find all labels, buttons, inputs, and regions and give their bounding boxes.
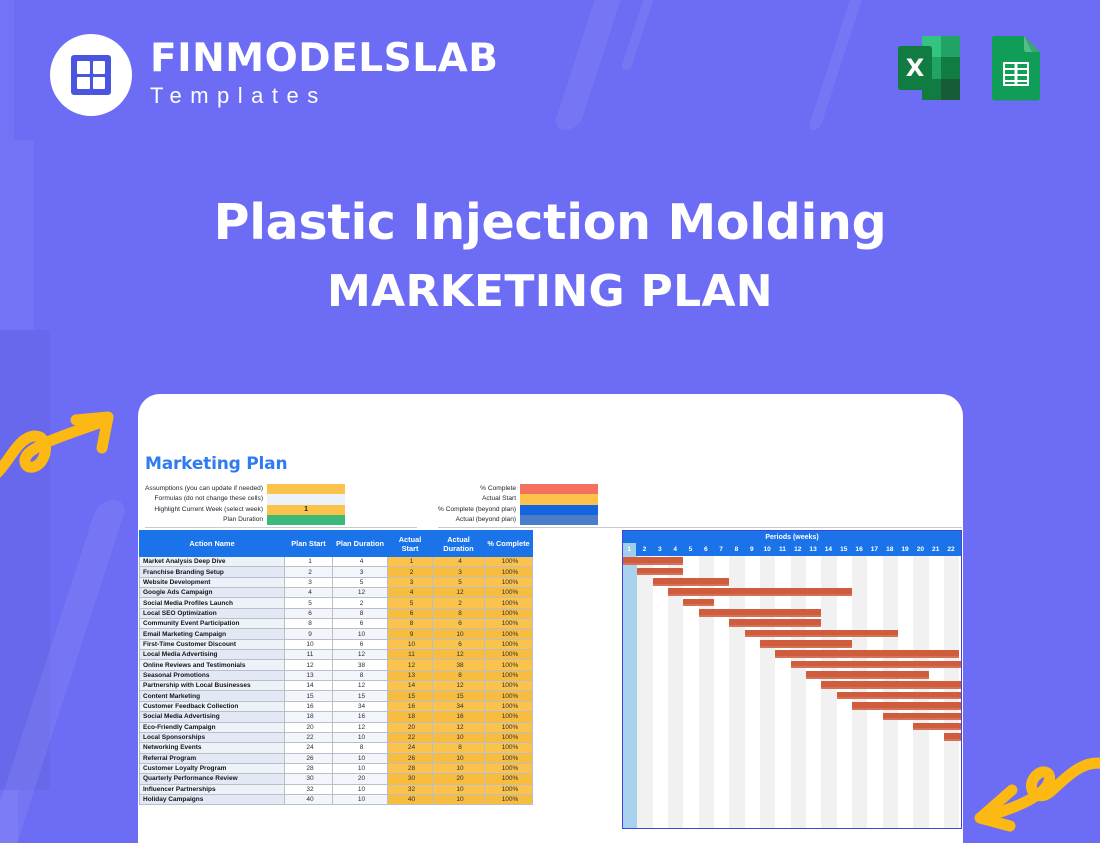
spreadsheet-card: Marketing Plan Assumptions (you can upda… <box>138 394 963 843</box>
column-header[interactable]: Actual Start <box>388 531 433 557</box>
table-row[interactable]: Market Analysis Deep Dive1414100% <box>140 557 533 567</box>
poster-canvas: FINMODELSLAB Templates X <box>0 0 1100 843</box>
value-cell[interactable]: 100% <box>485 650 533 660</box>
gantt-bar[interactable] <box>699 609 822 617</box>
period-cell[interactable]: 5 <box>683 543 698 556</box>
value-cell[interactable]: 40 <box>285 794 333 804</box>
value-cell[interactable]: 12 <box>333 681 388 691</box>
action-name-cell[interactable]: Quarterly Performance Review <box>140 774 285 784</box>
legend-swatch <box>520 515 598 525</box>
value-cell[interactable]: 20 <box>388 722 433 732</box>
gantt-row <box>622 753 962 763</box>
value-cell[interactable]: 12 <box>433 650 485 660</box>
value-cell[interactable]: 100% <box>485 774 533 784</box>
action-name-cell[interactable]: Local Media Advertising <box>140 650 285 660</box>
value-cell[interactable]: 10 <box>333 794 388 804</box>
gantt-row <box>622 566 962 576</box>
period-cell[interactable]: 3 <box>653 543 668 556</box>
value-cell[interactable]: 8 <box>333 608 388 618</box>
action-table[interactable]: Action NamePlan StartPlan DurationActual… <box>139 530 533 805</box>
value-cell[interactable]: 30 <box>388 774 433 784</box>
legend-swatch <box>520 494 598 504</box>
gantt-bar[interactable] <box>775 650 959 658</box>
value-cell[interactable]: 10 <box>433 763 485 773</box>
table-header: Action NamePlan StartPlan DurationActual… <box>140 531 533 557</box>
value-cell[interactable]: 34 <box>433 701 485 711</box>
value-cell[interactable]: 10 <box>433 629 485 639</box>
period-cell[interactable]: 12 <box>791 543 806 556</box>
table-row[interactable]: Eco-Friendly Campaign20122012100% <box>140 722 533 732</box>
gantt-panel[interactable]: Periods (weeks) 123456789101112131415161… <box>622 530 962 829</box>
period-cell[interactable]: 21 <box>929 543 944 556</box>
table-row[interactable]: Customer Feedback Collection16341634100% <box>140 701 533 711</box>
value-cell[interactable]: 16 <box>388 701 433 711</box>
brush-stroke-7 <box>0 790 18 843</box>
periods-header-row[interactable]: 1234567891011121314151617181920212223242… <box>622 543 962 556</box>
period-cell[interactable]: 8 <box>729 543 744 556</box>
table-row[interactable]: Quarterly Performance Review30203020100% <box>140 774 533 784</box>
value-cell[interactable]: 10 <box>433 784 485 794</box>
sheet-title: Marketing Plan <box>145 454 287 474</box>
legend-swatch <box>267 484 345 494</box>
value-cell[interactable]: 10 <box>433 753 485 763</box>
value-cell[interactable]: 20 <box>433 774 485 784</box>
period-cell[interactable]: 18 <box>883 543 898 556</box>
value-cell[interactable]: 2 <box>333 598 388 608</box>
value-cell[interactable]: 6 <box>433 639 485 649</box>
value-cell[interactable]: 100% <box>485 660 533 670</box>
value-cell[interactable]: 1 <box>285 557 333 567</box>
value-cell[interactable]: 30 <box>285 774 333 784</box>
value-cell[interactable]: 38 <box>433 660 485 670</box>
value-cell[interactable]: 12 <box>433 722 485 732</box>
value-cell[interactable]: 10 <box>388 639 433 649</box>
value-cell[interactable]: 40 <box>388 794 433 804</box>
action-name-cell[interactable]: Content Marketing <box>140 691 285 701</box>
value-cell[interactable]: 1 <box>388 557 433 567</box>
value-cell[interactable]: 5 <box>388 598 433 608</box>
value-cell[interactable]: 10 <box>333 629 388 639</box>
brand-subtitle: Templates <box>150 81 498 111</box>
action-name-cell[interactable]: Influencer Partnerships <box>140 784 285 794</box>
legend-right-swatches <box>520 484 598 525</box>
value-cell[interactable]: 9 <box>285 629 333 639</box>
app-icons: X <box>894 32 1052 104</box>
gantt-row <box>622 577 962 587</box>
legend-label: Formulas (do not change these cells) <box>145 494 263 504</box>
action-name-cell[interactable]: Market Analysis Deep Dive <box>140 557 285 567</box>
gantt-row <box>622 784 962 794</box>
period-cell[interactable]: 6 <box>699 543 714 556</box>
table-body: Market Analysis Deep Dive1414100%Franchi… <box>140 557 533 805</box>
value-cell[interactable]: 28 <box>388 763 433 773</box>
table-row[interactable]: Website Development3535100% <box>140 577 533 587</box>
action-name-cell[interactable]: Customer Feedback Collection <box>140 701 285 711</box>
gantt-bar[interactable] <box>760 640 852 648</box>
squiggly-arrow-down-left-icon <box>958 742 1100 834</box>
action-name-cell[interactable]: Social Media Advertising <box>140 712 285 722</box>
value-cell[interactable]: 100% <box>485 784 533 794</box>
gantt-bar[interactable] <box>806 671 929 679</box>
value-cell[interactable]: 100% <box>485 681 533 691</box>
value-cell[interactable]: 12 <box>333 650 388 660</box>
table-row[interactable]: Google Ads Campaign412412100% <box>140 588 533 598</box>
action-name-cell[interactable]: Partnership with Local Businesses <box>140 681 285 691</box>
gantt-bar[interactable] <box>852 702 962 710</box>
period-cell[interactable]: 16 <box>852 543 867 556</box>
legend-left-swatches: 1 <box>267 484 345 525</box>
period-cell[interactable]: 15 <box>837 543 852 556</box>
value-cell[interactable]: 20 <box>333 774 388 784</box>
table-row[interactable]: Franchise Branding Setup2323100% <box>140 567 533 577</box>
value-cell[interactable]: 8 <box>433 670 485 680</box>
value-cell[interactable]: 2 <box>285 567 333 577</box>
value-cell[interactable]: 10 <box>333 753 388 763</box>
gantt-row <box>622 597 962 607</box>
google-sheets-icon[interactable] <box>980 32 1052 104</box>
action-name-cell[interactable]: Email Marketing Campaign <box>140 629 285 639</box>
value-cell[interactable]: 100% <box>485 557 533 567</box>
value-cell[interactable]: 100% <box>485 691 533 701</box>
gantt-row <box>622 722 962 732</box>
title-line-2: MARKETING PLAN <box>0 263 1100 320</box>
value-cell[interactable]: 10 <box>285 639 333 649</box>
table-row[interactable]: Networking Events248248100% <box>140 743 533 753</box>
table-row[interactable]: First-Time Customer Discount106106100% <box>140 639 533 649</box>
value-cell[interactable]: 3 <box>388 577 433 587</box>
period-cell[interactable]: 9 <box>745 543 760 556</box>
legend-right-labels: % CompleteActual Start% Complete (beyond… <box>438 484 516 525</box>
gantt-row <box>622 649 962 659</box>
period-cell[interactable]: 17 <box>867 543 882 556</box>
legend-label: % Complete <box>438 484 516 494</box>
brand-name: FINMODELSLAB <box>150 39 498 79</box>
gantt-row <box>622 618 962 628</box>
table-row[interactable]: Referral Program26102610100% <box>140 753 533 763</box>
value-cell[interactable]: 2 <box>433 598 485 608</box>
value-cell[interactable]: 5 <box>433 577 485 587</box>
value-cell[interactable]: 20 <box>285 722 333 732</box>
logo-mark <box>50 34 132 116</box>
periods-title: Periods (weeks) <box>622 530 962 543</box>
column-header[interactable]: Actual Duration <box>433 531 485 557</box>
title-line-1: Plastic Injection Molding <box>0 192 1100 253</box>
value-cell[interactable]: 12 <box>333 588 388 598</box>
value-cell[interactable]: 16 <box>285 701 333 711</box>
gantt-row <box>622 794 962 804</box>
value-cell[interactable]: 4 <box>285 588 333 598</box>
value-cell[interactable]: 8 <box>285 619 333 629</box>
gantt-bar[interactable] <box>791 661 962 669</box>
value-cell[interactable]: 13 <box>285 670 333 680</box>
action-name-cell[interactable]: Networking Events <box>140 743 285 753</box>
period-cell[interactable]: 14 <box>821 543 836 556</box>
value-cell[interactable]: 100% <box>485 567 533 577</box>
value-cell[interactable]: 28 <box>285 763 333 773</box>
value-cell[interactable]: 10 <box>333 763 388 773</box>
gantt-bar[interactable] <box>683 599 714 607</box>
table-header-row: Action NamePlan StartPlan DurationActual… <box>140 531 533 557</box>
period-cell[interactable]: 1 <box>622 543 637 556</box>
gantt-bar[interactable] <box>637 568 683 576</box>
brand-logo[interactable]: FINMODELSLAB Templates <box>50 34 498 116</box>
value-cell[interactable]: 100% <box>485 608 533 618</box>
table-row[interactable]: Influencer Partnerships32103210100% <box>140 784 533 794</box>
value-cell[interactable]: 3 <box>285 577 333 587</box>
action-name-cell[interactable]: Seasonal Promotions <box>140 670 285 680</box>
legend-label: % Complete (beyond plan) <box>438 505 516 515</box>
value-cell[interactable]: 8 <box>433 743 485 753</box>
value-cell[interactable]: 100% <box>485 577 533 587</box>
period-cell[interactable]: 19 <box>898 543 913 556</box>
period-cell[interactable]: 13 <box>806 543 821 556</box>
value-cell[interactable]: 100% <box>485 598 533 608</box>
action-name-cell[interactable]: Franchise Branding Setup <box>140 567 285 577</box>
value-cell[interactable]: 18 <box>285 712 333 722</box>
table-row[interactable]: Partnership with Local Businesses1412141… <box>140 681 533 691</box>
column-header[interactable]: Action Name <box>140 531 285 557</box>
value-cell[interactable]: 16 <box>433 712 485 722</box>
action-name-cell[interactable]: Local SEO Optimization <box>140 608 285 618</box>
action-name-cell[interactable]: First-Time Customer Discount <box>140 639 285 649</box>
value-cell[interactable]: 100% <box>485 722 533 732</box>
value-cell[interactable]: 100% <box>485 794 533 804</box>
value-cell[interactable]: 24 <box>388 743 433 753</box>
value-cell[interactable]: 100% <box>485 712 533 722</box>
action-name-cell[interactable]: Community Event Participation <box>140 619 285 629</box>
gantt-row <box>622 691 962 701</box>
period-cell[interactable]: 22 <box>944 543 959 556</box>
table-row[interactable]: Email Marketing Campaign910910100% <box>140 629 533 639</box>
table-row[interactable]: Community Event Participation8686100% <box>140 619 533 629</box>
period-cell[interactable]: 4 <box>668 543 683 556</box>
action-name-cell[interactable]: Customer Loyalty Program <box>140 763 285 773</box>
value-cell[interactable]: 32 <box>388 784 433 794</box>
legend-swatch <box>267 515 345 525</box>
period-cell[interactable]: 11 <box>775 543 790 556</box>
gantt-row <box>622 711 962 721</box>
value-cell[interactable]: 18 <box>388 712 433 722</box>
value-cell[interactable]: 4 <box>388 588 433 598</box>
value-cell[interactable]: 6 <box>333 619 388 629</box>
gantt-row <box>622 773 962 783</box>
header: FINMODELSLAB Templates X <box>0 0 1100 150</box>
period-cell[interactable]: 7 <box>714 543 729 556</box>
page-title: Plastic Injection Molding MARKETING PLAN <box>0 192 1100 320</box>
value-cell[interactable]: 2 <box>388 567 433 577</box>
legend-status: % CompleteActual Start% Complete (beyond… <box>438 484 598 525</box>
value-cell[interactable]: 100% <box>485 670 533 680</box>
gantt-row <box>622 660 962 670</box>
table-row[interactable]: Local Sponsorships22102210100% <box>140 732 533 742</box>
value-cell[interactable]: 100% <box>485 629 533 639</box>
table-row[interactable]: Customer Loyalty Program28102810100% <box>140 763 533 773</box>
gantt-bar[interactable] <box>837 692 962 700</box>
table-row[interactable]: Seasonal Promotions138138100% <box>140 670 533 680</box>
gantt-chart[interactable] <box>622 556 962 829</box>
period-cell[interactable]: 2 <box>637 543 652 556</box>
value-cell[interactable]: 8 <box>333 670 388 680</box>
value-cell[interactable]: 11 <box>388 650 433 660</box>
value-cell[interactable]: 5 <box>285 598 333 608</box>
value-cell[interactable]: 15 <box>333 691 388 701</box>
gantt-row <box>622 608 962 618</box>
value-cell[interactable]: 100% <box>485 701 533 711</box>
value-cell[interactable]: 12 <box>333 722 388 732</box>
brush-stroke-6 <box>0 330 50 790</box>
gantt-row <box>622 639 962 649</box>
spreadsheet: Marketing Plan Assumptions (you can upda… <box>138 394 963 843</box>
value-cell[interactable]: 10 <box>333 784 388 794</box>
value-cell[interactable]: 6 <box>433 619 485 629</box>
svg-text:X: X <box>906 54 925 82</box>
legend-label: Plan Duration <box>145 515 263 525</box>
value-cell[interactable]: 3 <box>333 567 388 577</box>
gantt-row <box>622 556 962 566</box>
gantt-bar[interactable] <box>821 681 962 689</box>
gantt-bar[interactable] <box>913 723 962 731</box>
action-name-cell[interactable]: Social Media Profiles Launch <box>140 598 285 608</box>
value-cell[interactable]: 100% <box>485 763 533 773</box>
gantt-bar[interactable] <box>653 578 730 586</box>
column-header[interactable]: Plan Start <box>285 531 333 557</box>
value-cell[interactable]: 34 <box>333 701 388 711</box>
value-cell[interactable]: 15 <box>433 691 485 701</box>
value-cell[interactable]: 10 <box>333 732 388 742</box>
value-cell[interactable]: 100% <box>485 588 533 598</box>
value-cell[interactable]: 5 <box>333 577 388 587</box>
value-cell[interactable]: 16 <box>333 712 388 722</box>
gantt-bar[interactable] <box>729 619 821 627</box>
table-row[interactable]: Social Media Profiles Launch5252100% <box>140 598 533 608</box>
value-cell[interactable]: 15 <box>285 691 333 701</box>
value-cell[interactable]: 13 <box>388 670 433 680</box>
value-cell[interactable]: 9 <box>388 629 433 639</box>
value-cell[interactable]: 100% <box>485 732 533 742</box>
value-cell[interactable]: 38 <box>333 660 388 670</box>
legend-divider-left <box>145 527 417 528</box>
action-name-cell[interactable]: Local Sponsorships <box>140 732 285 742</box>
gantt-row <box>622 587 962 597</box>
brand-wordmark: FINMODELSLAB Templates <box>150 39 498 110</box>
grid-squares-icon <box>71 55 111 95</box>
value-cell[interactable]: 12 <box>285 660 333 670</box>
action-name-cell[interactable]: Online Reviews and Testimonials <box>140 660 285 670</box>
value-cell[interactable]: 22 <box>388 732 433 742</box>
legend-label: Actual (beyond plan) <box>438 515 516 525</box>
table-row[interactable]: Content Marketing15151515100% <box>140 691 533 701</box>
value-cell[interactable]: 4 <box>333 557 388 567</box>
column-header[interactable]: Plan Duration <box>333 531 388 557</box>
value-cell[interactable]: 8 <box>333 743 388 753</box>
value-cell[interactable]: 26 <box>285 753 333 763</box>
legend-assumptions: Assumptions (you can update if needed)Fo… <box>145 484 345 525</box>
excel-icon[interactable]: X <box>894 32 966 104</box>
gantt-row <box>622 628 962 638</box>
gantt-bar[interactable] <box>622 557 683 565</box>
value-cell[interactable]: 14 <box>285 681 333 691</box>
table-row[interactable]: Social Media Advertising18161816100% <box>140 712 533 722</box>
value-cell[interactable]: 12 <box>433 681 485 691</box>
gantt-row <box>622 680 962 690</box>
value-cell[interactable]: 15 <box>388 691 433 701</box>
value-cell[interactable]: 3 <box>433 567 485 577</box>
legend-swatch: 1 <box>267 505 345 515</box>
gantt-row <box>622 742 962 752</box>
legend-left-labels: Assumptions (you can update if needed)Fo… <box>145 484 263 525</box>
value-cell[interactable]: 6 <box>285 608 333 618</box>
gantt-bar[interactable] <box>944 733 962 741</box>
value-cell[interactable]: 24 <box>285 743 333 753</box>
value-cell[interactable]: 10 <box>433 732 485 742</box>
value-cell[interactable]: 22 <box>285 732 333 742</box>
value-cell[interactable]: 100% <box>485 639 533 649</box>
column-header[interactable]: % Complete <box>485 531 533 557</box>
table-row[interactable]: Holiday Campaigns40104010100% <box>140 794 533 804</box>
period-cell[interactable]: 20 <box>913 543 928 556</box>
legend-swatch <box>520 484 598 494</box>
value-cell[interactable]: 8 <box>433 608 485 618</box>
gantt-row <box>622 732 962 742</box>
action-name-cell[interactable]: Website Development <box>140 577 285 587</box>
value-cell[interactable]: 12 <box>433 588 485 598</box>
action-name-cell[interactable]: Google Ads Campaign <box>140 588 285 598</box>
action-name-cell[interactable]: Holiday Campaigns <box>140 794 285 804</box>
value-cell[interactable]: 14 <box>388 681 433 691</box>
value-cell[interactable]: 8 <box>388 619 433 629</box>
value-cell[interactable]: 4 <box>433 557 485 567</box>
legend-label: Actual Start <box>438 494 516 504</box>
action-name-cell[interactable]: Referral Program <box>140 753 285 763</box>
gantt-bar[interactable] <box>883 713 962 721</box>
action-name-cell[interactable]: Eco-Friendly Campaign <box>140 722 285 732</box>
value-cell[interactable]: 10 <box>433 794 485 804</box>
gantt-row <box>622 763 962 773</box>
gantt-row <box>622 701 962 711</box>
value-cell[interactable]: 12 <box>388 660 433 670</box>
value-cell[interactable]: 26 <box>388 753 433 763</box>
value-cell[interactable]: 100% <box>485 753 533 763</box>
table-row[interactable]: Local Media Advertising11121112100% <box>140 650 533 660</box>
legend-label: Highlight Current Week (select week) <box>145 505 263 515</box>
value-cell[interactable]: 100% <box>485 619 533 629</box>
value-cell[interactable]: 6 <box>388 608 433 618</box>
gantt-bar[interactable] <box>745 630 898 638</box>
legend-swatch <box>520 505 598 515</box>
squiggly-arrow-up-right-icon <box>0 408 122 494</box>
legend-swatch <box>267 494 345 504</box>
value-cell[interactable]: 6 <box>333 639 388 649</box>
table-row[interactable]: Online Reviews and Testimonials123812381… <box>140 660 533 670</box>
period-cell[interactable]: 23 <box>959 543 962 556</box>
legend-divider-right <box>438 527 962 528</box>
table-row[interactable]: Local SEO Optimization6868100% <box>140 608 533 618</box>
gantt-row <box>622 670 962 680</box>
value-cell[interactable]: 11 <box>285 650 333 660</box>
legend-label: Assumptions (you can update if needed) <box>145 484 263 494</box>
gantt-bar[interactable] <box>668 588 852 596</box>
value-cell[interactable]: 100% <box>485 743 533 753</box>
value-cell[interactable]: 32 <box>285 784 333 794</box>
period-cell[interactable]: 10 <box>760 543 775 556</box>
